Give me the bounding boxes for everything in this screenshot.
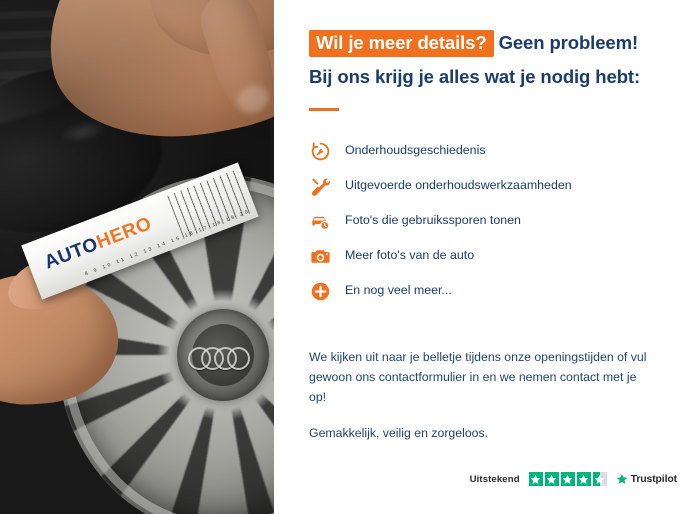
content-panel: Wil je meer details?Geen probleem! Bij o… bbox=[274, 0, 685, 514]
accent-divider bbox=[309, 108, 339, 111]
star-icon bbox=[545, 472, 559, 486]
list-item-label: Meer foto's van de auto bbox=[345, 248, 474, 264]
star-icon bbox=[529, 472, 543, 486]
list-item: En nog veel meer... bbox=[309, 280, 659, 302]
headline-line-2: Bij ons krijg je alles wat je nodig hebt… bbox=[309, 64, 659, 90]
plus-circle-icon bbox=[309, 280, 331, 302]
audi-rings-logo bbox=[188, 346, 258, 366]
car-history-icon bbox=[309, 210, 331, 232]
list-item: Onderhoudsgeschiedenis bbox=[309, 140, 659, 162]
list-item-label: Foto's die gebruikssporen tonen bbox=[345, 213, 521, 229]
list-item: Meer foto's van de auto bbox=[309, 245, 659, 267]
list-item-label: En nog veel meer... bbox=[345, 283, 452, 299]
star-icon bbox=[577, 472, 591, 486]
trustpilot-stars bbox=[529, 472, 607, 486]
camera-icon bbox=[309, 245, 331, 267]
page-title: Wil je meer details?Geen probleem! Bij o… bbox=[309, 30, 659, 90]
tagline-paragraph: Gemakkelijk, veilig en zorgeloos. bbox=[309, 424, 654, 444]
trustpilot-rating-word: Uitstekend bbox=[470, 474, 520, 485]
trustpilot-brand-text: Trustpilot bbox=[631, 474, 677, 485]
list-item-label: Uitgevoerde onderhoudswerkzaamheden bbox=[345, 178, 572, 194]
photo-scene: AUTOHERO 8 9 10 11 12 13 14 15 16 17 18 … bbox=[0, 0, 274, 514]
headline-highlight: Wil je meer details? bbox=[309, 30, 494, 57]
feature-list: Onderhoudsgeschiedenis Uitgevoerde onder… bbox=[309, 140, 659, 302]
list-item: Foto's die gebruikssporen tonen bbox=[309, 210, 659, 232]
promo-panel: AUTOHERO 8 9 10 11 12 13 14 15 16 17 18 … bbox=[0, 0, 685, 514]
trustpilot-logo: Trustpilot bbox=[616, 473, 677, 485]
star-icon bbox=[561, 472, 575, 486]
trustpilot-rating[interactable]: Uitstekend Trustpilot bbox=[470, 472, 677, 486]
contact-paragraph: We kijken uit naar je belletje tijdens o… bbox=[309, 348, 654, 408]
maintenance-history-icon bbox=[309, 140, 331, 162]
star-half-icon bbox=[593, 472, 607, 486]
tire-inspection-photo: AUTOHERO 8 9 10 11 12 13 14 15 16 17 18 … bbox=[0, 0, 274, 514]
headline-rest: Geen probleem! bbox=[499, 32, 638, 53]
tools-icon bbox=[309, 175, 331, 197]
list-item-label: Onderhoudsgeschiedenis bbox=[345, 143, 486, 159]
trustpilot-star-icon bbox=[616, 473, 628, 485]
list-item: Uitgevoerde onderhoudswerkzaamheden bbox=[309, 175, 659, 197]
